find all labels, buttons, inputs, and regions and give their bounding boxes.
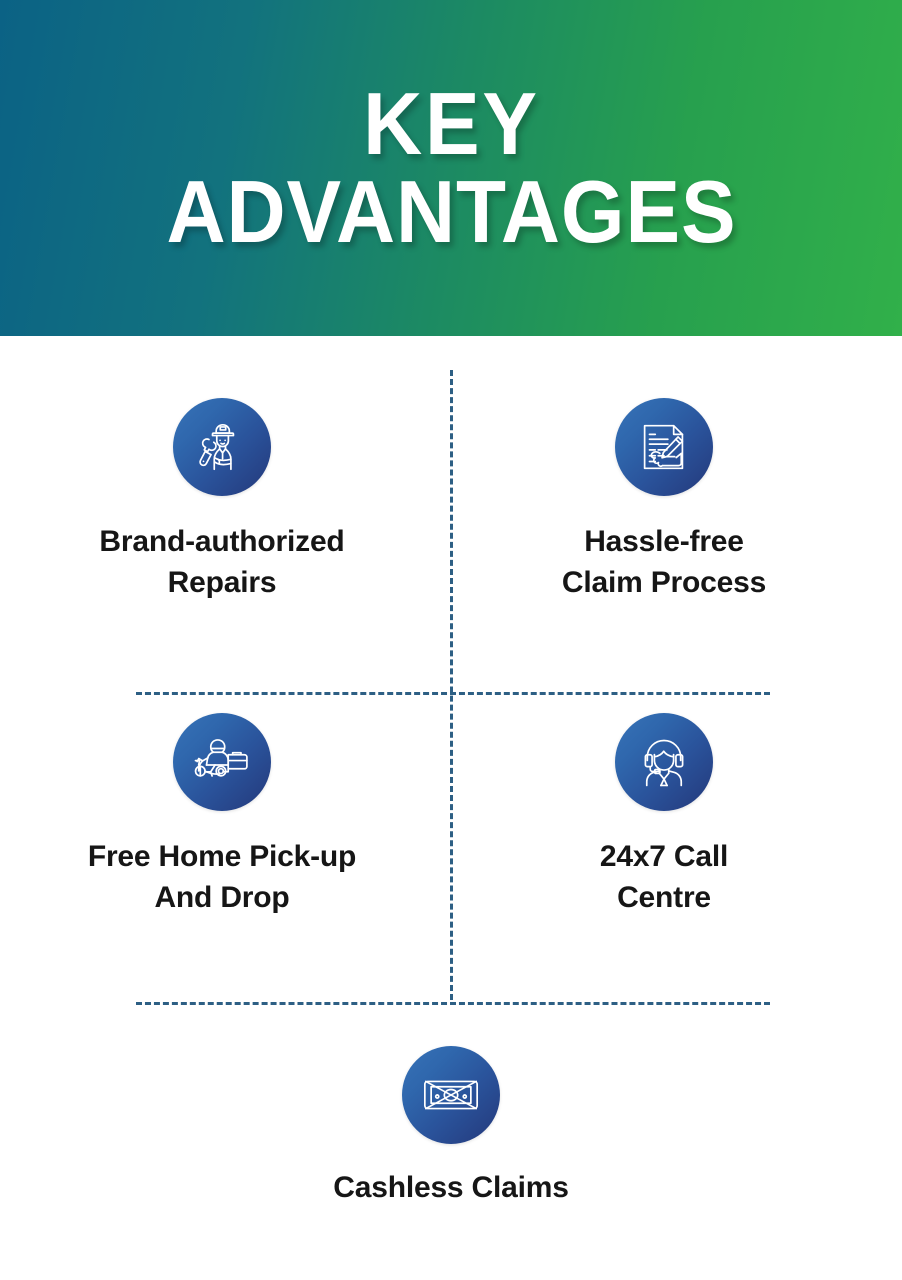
- headset-agent-icon: [633, 731, 695, 793]
- advantage-label: Brand-authorized Repairs: [99, 522, 344, 603]
- advantage-icon-circle: [173, 398, 271, 496]
- mechanic-wrench-icon: [191, 416, 253, 478]
- key-advantages-poster: KEY ADVANTAGES: [0, 0, 902, 1280]
- advantage-label: Hassle-free Claim Process: [562, 522, 766, 603]
- advantage-icon-circle: [173, 713, 271, 811]
- advantage-item-free-home-pickup-and-drop[interactable]: Free Home Pick-up And Drop: [12, 713, 432, 918]
- divider-horizontal-bottom: [136, 1002, 770, 1005]
- advantage-icon-circle: [402, 1046, 500, 1144]
- advantage-label: Cashless Claims: [333, 1168, 568, 1209]
- advantage-label: 24x7 Call Centre: [600, 837, 728, 918]
- page-title-line-1: KEY: [166, 81, 736, 167]
- poster-header: KEY ADVANTAGES: [0, 0, 902, 336]
- advantage-label: Free Home Pick-up And Drop: [88, 837, 356, 918]
- claim-form-pen-icon: [633, 416, 695, 478]
- divider-vertical: [450, 370, 453, 1000]
- advantage-item-hassle-free-claim-process[interactable]: Hassle-free Claim Process: [454, 398, 874, 603]
- advantages-grid: Brand-authorized Repairs: [0, 336, 902, 1280]
- page-title-line-2: ADVANTAGES: [166, 169, 736, 255]
- advantage-icon-circle: [615, 398, 713, 496]
- page-title: KEY ADVANTAGES: [166, 81, 736, 255]
- advantage-item-brand-authorized-repairs[interactable]: Brand-authorized Repairs: [12, 398, 432, 603]
- divider-horizontal-top: [136, 692, 770, 695]
- advantage-icon-circle: [615, 713, 713, 811]
- advantage-item-24x7-call-centre[interactable]: 24x7 Call Centre: [454, 713, 874, 918]
- delivery-scooter-icon: [191, 731, 253, 793]
- advantage-item-cashless-claims[interactable]: Cashless Claims: [241, 1046, 661, 1209]
- cashless-banknote-icon: [420, 1064, 482, 1126]
